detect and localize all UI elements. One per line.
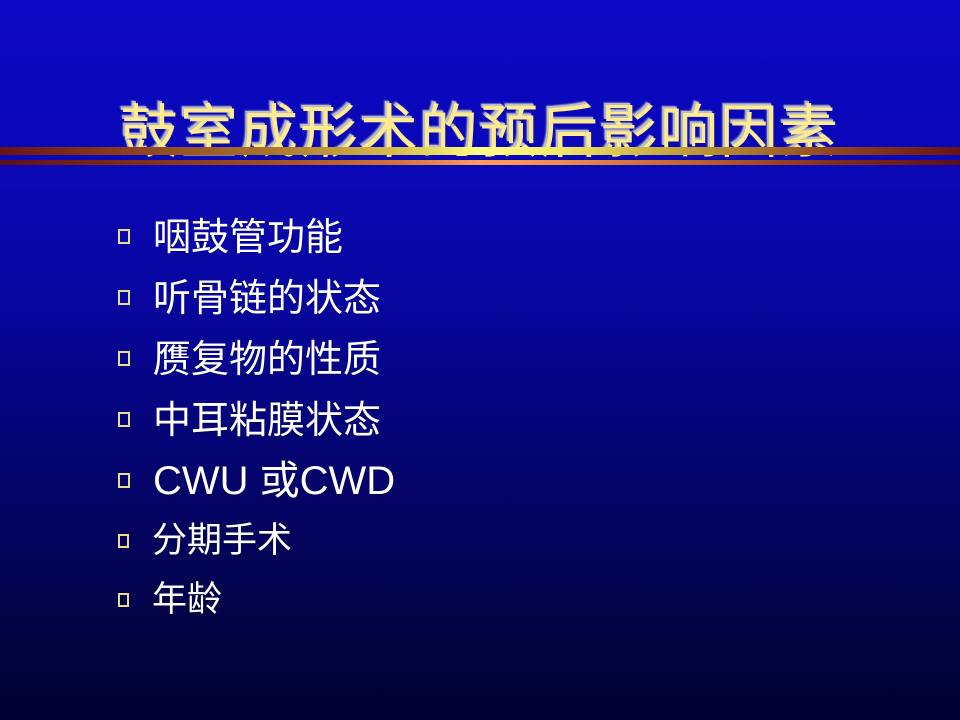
- list-item-label: 分期手术: [152, 519, 292, 563]
- square-bullet-icon: [118, 412, 130, 427]
- divider-bar-thin: [0, 160, 960, 165]
- square-bullet-icon: [118, 229, 130, 244]
- list-item-label: 咽鼓管功能: [153, 215, 343, 259]
- square-bullet-icon: [118, 593, 129, 607]
- list-item-label: 赝复物的性质: [153, 337, 381, 381]
- title-zone: 鼓室成形术的预后影响因素: [0, 52, 960, 138]
- divider-bar-thick: [0, 147, 960, 155]
- list-item-label: 中耳粘膜状态: [153, 398, 381, 442]
- presentation-slide: 鼓室成形术的预后影响因素 咽鼓管功能 听骨链的状态 赝复物的性质 中耳粘膜状态 …: [0, 0, 960, 720]
- square-bullet-icon: [118, 290, 130, 305]
- bullet-list: 咽鼓管功能 听骨链的状态 赝复物的性质 中耳粘膜状态 CWU 或CWD 分期手术…: [112, 206, 912, 629]
- list-item[interactable]: 咽鼓管功能: [112, 206, 912, 267]
- list-item[interactable]: 听骨链的状态: [112, 267, 912, 328]
- list-item-label: 年龄: [152, 578, 222, 622]
- list-item[interactable]: 中耳粘膜状态: [112, 389, 912, 450]
- list-item-label: 听骨链的状态: [153, 276, 381, 320]
- list-item[interactable]: 分期手术: [112, 511, 912, 570]
- list-item[interactable]: 赝复物的性质: [112, 328, 912, 389]
- list-item[interactable]: CWU 或CWD: [112, 450, 912, 511]
- square-bullet-icon: [118, 534, 129, 548]
- square-bullet-icon: [118, 351, 130, 366]
- list-item[interactable]: 年龄: [112, 570, 912, 629]
- list-item-label: CWU 或CWD: [153, 459, 395, 503]
- square-bullet-icon: [118, 473, 130, 488]
